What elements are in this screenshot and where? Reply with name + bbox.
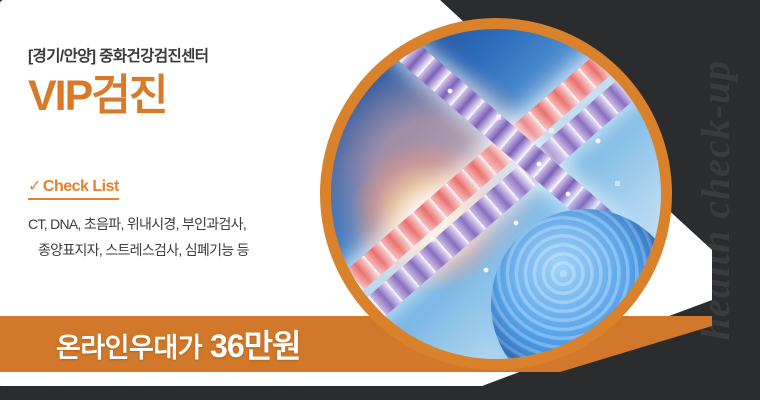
price-amount: 36만원 <box>210 328 300 364</box>
price-text: 온라인우대가36만원 <box>0 321 301 367</box>
headline-block: [경기/안양] 중화건강검진센터 VIP검진 <box>28 44 328 119</box>
check-icon: ✓ <box>28 178 41 195</box>
dna-image-ring <box>320 18 672 370</box>
promo-subtitle: [경기/안양] 중화건강검진센터 <box>28 44 328 66</box>
checklist-block: ✓Check List CT, DNA, 초음파, 위내시경, 부인과검사, 종… <box>28 176 328 264</box>
promo-banner[interactable]: health check-up <box>0 0 760 400</box>
price-label: 온라인우대가 <box>56 333 202 363</box>
dna-helix-cell-illustration <box>331 29 661 359</box>
promo-title: VIP검진 <box>28 74 328 119</box>
checklist-line: 종양표지자, 스트레스검사, 심폐기능 등 <box>28 238 328 264</box>
checklist-heading-label: Check List <box>43 178 119 195</box>
checklist-line: CT, DNA, 초음파, 위내시경, 부인과검사, <box>28 212 328 238</box>
checklist-heading: ✓Check List <box>28 176 119 200</box>
